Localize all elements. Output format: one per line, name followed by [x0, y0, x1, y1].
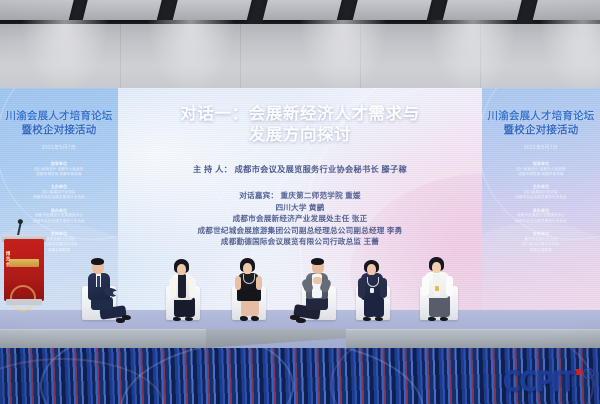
guest-row: 四川大学 黄鹂 — [100, 202, 500, 214]
guest-row: 成都市会展新经济产业发展处主任 张正 — [100, 213, 500, 225]
name-badge — [370, 288, 374, 293]
guest-row: 成都世纪城会展旅游集团公司副总经理总公司副总经理 李勇 — [100, 225, 500, 237]
host-line: 主 持 人： 成都市会议及展览服务行业协会秘书长 滕子稼 — [100, 163, 500, 175]
stage-step-right — [346, 329, 600, 349]
name-badge — [435, 286, 439, 291]
red-podium: 博览会 — [4, 231, 44, 309]
session-title-line2: 发展方向探讨 — [100, 125, 500, 146]
moderator-male-gray-jacket — [288, 238, 342, 320]
watermark: CCPIT ® — [503, 367, 594, 396]
screenshot-root: 川渝会展人才培育论坛 暨校企对接活动 对话一：会展新经济人才需求与 发展方向探讨… — [0, 0, 600, 404]
panelist-6-female-white-top — [416, 240, 462, 320]
panelist-5-female-navy-outfit — [352, 242, 396, 320]
session-title-line1: 对话一：会展新经济人才需求与 — [100, 104, 500, 125]
watermark-text: CCPIT — [503, 365, 574, 398]
panelist-1-male-navy-suit — [80, 242, 128, 320]
back-wall — [0, 0, 600, 92]
panelist-3-female-black-dress — [228, 240, 272, 320]
session-headline: 对话一：会展新经济人才需求与 发展方向探讨 主 持 人： 成都市会议及展览服务行… — [100, 104, 500, 248]
ceiling-strip — [0, 0, 600, 24]
guest-row: 对话嘉宾： 重庆第二师范学院 重媛 — [100, 190, 500, 202]
watermark-dot-icon — [575, 369, 581, 375]
panelist-2-female-white-blazer — [162, 242, 206, 320]
stage-step-left — [0, 329, 212, 349]
banner-right: 川渝会展人才培育论坛 暨校企对接活动 2021年5月7日 指导单位 四川省商务厅… — [482, 88, 600, 313]
registered-mark-icon: ® — [583, 368, 594, 379]
